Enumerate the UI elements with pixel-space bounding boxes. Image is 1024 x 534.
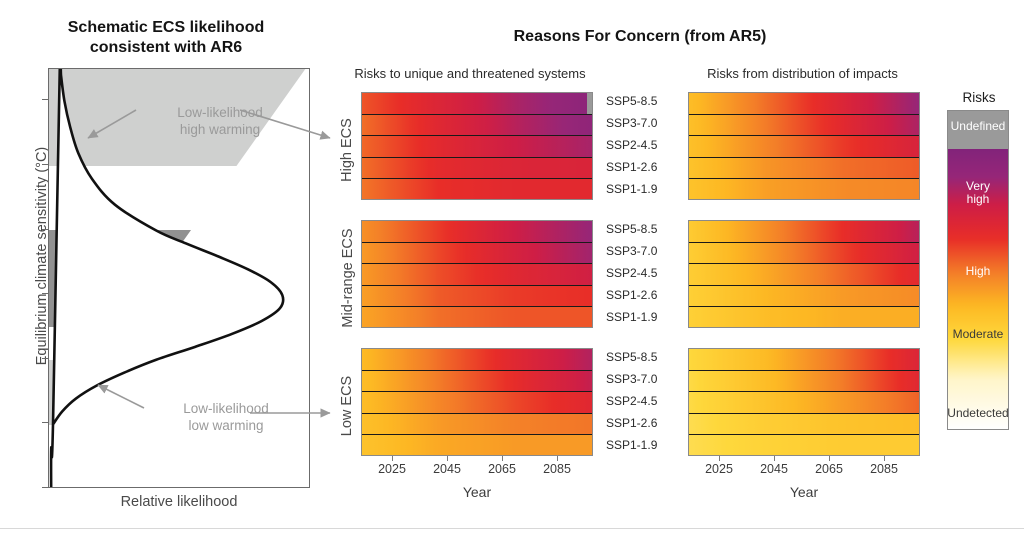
group-label-low-ecs: Low ECS xyxy=(339,352,355,460)
heatmap-gradient xyxy=(362,179,592,199)
heatmap-gradient xyxy=(689,371,919,391)
heatmap-row-ssp1-1.9 xyxy=(362,178,592,199)
heatmap-row-ssp5-8.5 xyxy=(362,93,592,114)
xtick-c1-2045 xyxy=(774,456,775,461)
annotation-high-line2: high warming xyxy=(180,122,260,137)
xtick-c0-2045 xyxy=(447,456,448,461)
heatmap-row-ssp5-8.5 xyxy=(689,93,919,114)
heatmap-row-ssp3-7.0 xyxy=(362,370,592,391)
heatmap-gradient xyxy=(362,93,592,114)
ssp-label-c0-g0-0: SSP5-8.5 xyxy=(606,94,657,108)
heatmap-gradient xyxy=(362,349,592,370)
ssp-label-c0-g1-0: SSP5-8.5 xyxy=(606,222,657,236)
group-label-mid-ecs: Mid-range ECS xyxy=(340,203,356,353)
ecs-title-line1: Schematic ECS likelihood xyxy=(10,18,322,38)
heatmap-gradient xyxy=(689,349,919,370)
heatmap-row-ssp2-4.5 xyxy=(362,263,592,284)
heatmap-gradient xyxy=(362,264,592,284)
ssp-label-c0-g2-4: SSP1-1.9 xyxy=(606,438,657,452)
heatmap-gradient xyxy=(689,136,919,156)
colorbar-label-very-high-line1: Very xyxy=(966,179,990,193)
heatmap-gradient xyxy=(689,392,919,412)
heatmap-gradient xyxy=(362,286,592,306)
heatmap-gradient xyxy=(362,243,592,263)
heatmap-gradient xyxy=(689,243,919,263)
ssp-label-c0-g0-3: SSP1-2.6 xyxy=(606,160,657,174)
heatmap-gradient xyxy=(362,371,592,391)
figure-bottom-divider xyxy=(0,528,1024,529)
xtick-c0-2065 xyxy=(502,456,503,461)
heatmap-gradient xyxy=(362,307,592,327)
heatmap-gradient xyxy=(362,435,592,455)
heatmap-gradient xyxy=(689,115,919,135)
xtick-label-c1-0: 2025 xyxy=(697,462,741,476)
xtick-c1-2065 xyxy=(829,456,830,461)
heatmap-row-ssp3-7.0 xyxy=(689,370,919,391)
heatmap-gradient xyxy=(362,392,592,412)
heatmap-gradient xyxy=(689,93,919,114)
xtick-label-c1-2: 2065 xyxy=(807,462,851,476)
heatmap-gradient xyxy=(689,264,919,284)
heatmap-gradient xyxy=(689,435,919,455)
heatmap-gradient xyxy=(362,221,592,242)
annotation-high-warming: Low-likelihood high warming xyxy=(140,104,300,138)
colorbar-label-undefined: Undefined xyxy=(947,120,1009,133)
heatmap-row-ssp1-2.6 xyxy=(362,413,592,434)
heatmap-impacts-mid-ecs[interactable] xyxy=(688,220,920,328)
xtick-label-c0-3: 2085 xyxy=(535,462,579,476)
heatmap-gradient xyxy=(689,221,919,242)
heatmap-unique-low-ecs[interactable] xyxy=(361,348,593,456)
heatmap-gradient xyxy=(689,179,919,199)
heatmap-row-ssp2-4.5 xyxy=(689,135,919,156)
xtick-label-c0-0: 2025 xyxy=(370,462,414,476)
heatmap-row-ssp2-4.5 xyxy=(362,135,592,156)
heatmap-row-ssp1-1.9 xyxy=(362,434,592,455)
heatmap-row-ssp5-8.5 xyxy=(362,349,592,370)
colorbar-label-high: High xyxy=(947,265,1009,278)
xtick-c0-2025 xyxy=(392,456,393,461)
annotation-low-line2: low warming xyxy=(188,418,263,433)
heatmap-unique-high-ecs[interactable] xyxy=(361,92,593,200)
ssp-label-c0-g2-0: SSP5-8.5 xyxy=(606,350,657,364)
heatmap-row-ssp2-4.5 xyxy=(689,391,919,412)
colorbar-label-very-high: Very high xyxy=(947,180,1009,206)
heatmap-gradient xyxy=(362,414,592,434)
heatmap-gradient xyxy=(362,158,592,178)
heatmap-row-ssp1-2.6 xyxy=(689,413,919,434)
heatmap-gradient xyxy=(362,115,592,135)
heatmap-row-ssp1-2.6 xyxy=(689,157,919,178)
xaxis-label-c0: Year xyxy=(357,484,597,500)
annotation-low-line1: Low-likelihood xyxy=(183,401,269,416)
heatmap-row-ssp1-2.6 xyxy=(689,285,919,306)
heatmap-row-ssp5-8.5 xyxy=(689,349,919,370)
heatmap-row-ssp2-4.5 xyxy=(362,391,592,412)
ssp-label-c0-g1-3: SSP1-2.6 xyxy=(606,288,657,302)
annotation-low-warming: Low-likelihood low warming xyxy=(146,400,306,434)
heatmap-gradient xyxy=(689,286,919,306)
rfc-column-title-1: Risks from distribution of impacts xyxy=(675,66,930,81)
xtick-label-c1-3: 2085 xyxy=(862,462,906,476)
heatmap-row-ssp5-8.5 xyxy=(362,221,592,242)
ecs-x-axis-label: Relative likelihood xyxy=(48,494,310,510)
heatmap-row-ssp5-8.5 xyxy=(689,221,919,242)
heatmap-row-ssp2-4.5 xyxy=(689,263,919,284)
heatmap-row-ssp1-1.9 xyxy=(689,178,919,199)
rfc-main-title: Reasons For Concern (from AR5) xyxy=(340,28,940,46)
colorbar-label-moderate: Moderate xyxy=(947,328,1009,341)
colorbar-label-undetected: Undetected xyxy=(947,407,1009,420)
heatmap-row-ssp1-2.6 xyxy=(362,157,592,178)
ssp-label-c0-g0-1: SSP3-7.0 xyxy=(606,116,657,130)
ssp-label-c0-g1-1: SSP3-7.0 xyxy=(606,244,657,258)
xaxis-label-c1: Year xyxy=(684,484,924,500)
heatmap-row-ssp3-7.0 xyxy=(689,242,919,263)
heatmap-unique-mid-ecs[interactable] xyxy=(361,220,593,328)
xtick-c1-2025 xyxy=(719,456,720,461)
ssp-label-c0-g0-4: SSP1-1.9 xyxy=(606,182,657,196)
heatmap-row-ssp3-7.0 xyxy=(362,242,592,263)
xtick-c0-2085 xyxy=(557,456,558,461)
heatmap-row-ssp3-7.0 xyxy=(362,114,592,135)
heatmap-gradient xyxy=(362,136,592,156)
figure-canvas: Schematic ECS likelihood consistent with… xyxy=(0,0,1024,534)
ssp-label-c0-g2-3: SSP1-2.6 xyxy=(606,416,657,430)
heatmap-gradient xyxy=(689,414,919,434)
ecs-panel-title: Schematic ECS likelihood consistent with… xyxy=(10,18,322,58)
heatmap-row-ssp1-1.9 xyxy=(689,306,919,327)
ssp-label-c0-g0-2: SSP2-4.5 xyxy=(606,138,657,152)
xtick-label-c0-1: 2045 xyxy=(425,462,469,476)
ssp-label-c0-g1-2: SSP2-4.5 xyxy=(606,266,657,280)
heatmap-gradient xyxy=(689,158,919,178)
ecs-title-line2: consistent with AR6 xyxy=(10,38,322,58)
heatmap-row-ssp1-1.9 xyxy=(362,306,592,327)
heatmap-row-ssp1-1.9 xyxy=(689,434,919,455)
heatmap-gradient xyxy=(689,307,919,327)
colorbar-label-very-high-line2: high xyxy=(967,192,990,206)
heatmap-impacts-low-ecs[interactable] xyxy=(688,348,920,456)
heatmap-impacts-high-ecs[interactable] xyxy=(688,92,920,200)
ssp-label-c0-g2-2: SSP2-4.5 xyxy=(606,394,657,408)
annotation-high-line1: Low-likelihood xyxy=(177,105,263,120)
xtick-label-c0-2: 2065 xyxy=(480,462,524,476)
heatmap-row-ssp3-7.0 xyxy=(689,114,919,135)
ssp-label-c0-g2-1: SSP3-7.0 xyxy=(606,372,657,386)
colorbar-title: Risks xyxy=(940,90,1018,105)
rfc-column-title-0: Risks to unique and threatened systems xyxy=(345,66,595,81)
ecs-likelihood-panel: Schematic ECS likelihood consistent with… xyxy=(0,0,330,534)
xtick-label-c1-1: 2045 xyxy=(752,462,796,476)
xtick-c1-2085 xyxy=(884,456,885,461)
group-label-high-ecs: High ECS xyxy=(339,95,355,205)
ssp-label-c0-g1-4: SSP1-1.9 xyxy=(606,310,657,324)
heatmap-row-ssp1-2.6 xyxy=(362,285,592,306)
heatmap-undefined-sliver xyxy=(587,93,592,114)
